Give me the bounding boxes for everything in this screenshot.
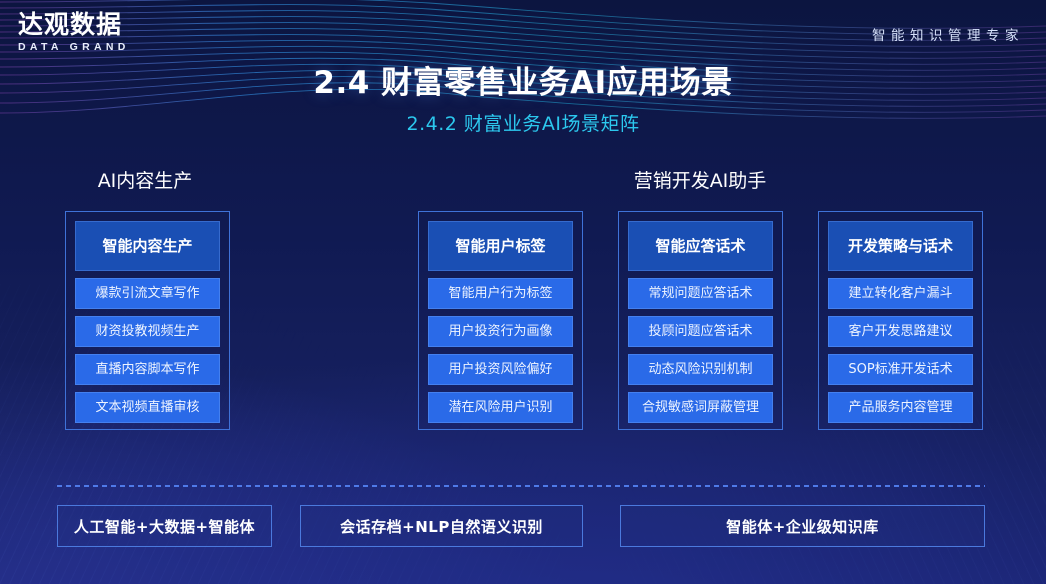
card-title: 智能用户标签 (428, 221, 573, 271)
card-title: 智能内容生产 (75, 221, 220, 271)
section-divider (57, 485, 985, 487)
card-item[interactable]: 智能用户行为标签 (428, 278, 573, 309)
brand-logo-cn: 达观数据 (18, 12, 130, 38)
foundation-bar[interactable]: 会话存档+NLP自然语义识别 (300, 505, 583, 547)
page-title: 2.4 财富零售业务AI应用场景 (0, 57, 1046, 102)
brand-tagline: 智能知识管理专家 (872, 24, 1024, 44)
card-item[interactable]: 合规敏感词屏蔽管理 (628, 392, 773, 423)
card-item[interactable]: SOP标准开发话术 (828, 354, 973, 385)
group-heading-content-production: AI内容生产 (45, 166, 245, 193)
card-item[interactable]: 常规问题应答话术 (628, 278, 773, 309)
page-subtitle: 2.4.2 财富业务AI场景矩阵 (0, 109, 1046, 136)
card-item[interactable]: 动态风险识别机制 (628, 354, 773, 385)
card-item[interactable]: 财资投教视频生产 (75, 316, 220, 347)
card-title: 开发策略与话术 (828, 221, 973, 271)
card-item[interactable]: 客户开发思路建议 (828, 316, 973, 347)
card-item[interactable]: 建立转化客户漏斗 (828, 278, 973, 309)
matrix-card: 智能应答话术 常规问题应答话术 投顾问题应答话术 动态风险识别机制 合规敏感词屏… (618, 211, 783, 430)
brand-logo: 达观数据 DATA GRAND (18, 12, 130, 53)
card-item[interactable]: 潜在风险用户识别 (428, 392, 573, 423)
card-item[interactable]: 投顾问题应答话术 (628, 316, 773, 347)
matrix-card: 智能内容生产 爆款引流文章写作 财资投教视频生产 直播内容脚本写作 文本视频直播… (65, 211, 230, 430)
card-title: 智能应答话术 (628, 221, 773, 271)
foundation-bar[interactable]: 人工智能+大数据+智能体 (57, 505, 272, 547)
foundation-bar[interactable]: 智能体+企业级知识库 (620, 505, 985, 547)
brand-logo-en: DATA GRAND (18, 41, 130, 53)
matrix-card: 智能用户标签 智能用户行为标签 用户投资行为画像 用户投资风险偏好 潜在风险用户… (418, 211, 583, 430)
card-item[interactable]: 用户投资行为画像 (428, 316, 573, 347)
card-item[interactable]: 文本视频直播审核 (75, 392, 220, 423)
card-item[interactable]: 直播内容脚本写作 (75, 354, 220, 385)
card-item[interactable]: 产品服务内容管理 (828, 392, 973, 423)
group-heading-marketing-assistant: 营销开发AI助手 (520, 166, 880, 193)
card-item[interactable]: 用户投资风险偏好 (428, 354, 573, 385)
matrix-card: 开发策略与话术 建立转化客户漏斗 客户开发思路建议 SOP标准开发话术 产品服务… (818, 211, 983, 430)
card-item[interactable]: 爆款引流文章写作 (75, 278, 220, 309)
